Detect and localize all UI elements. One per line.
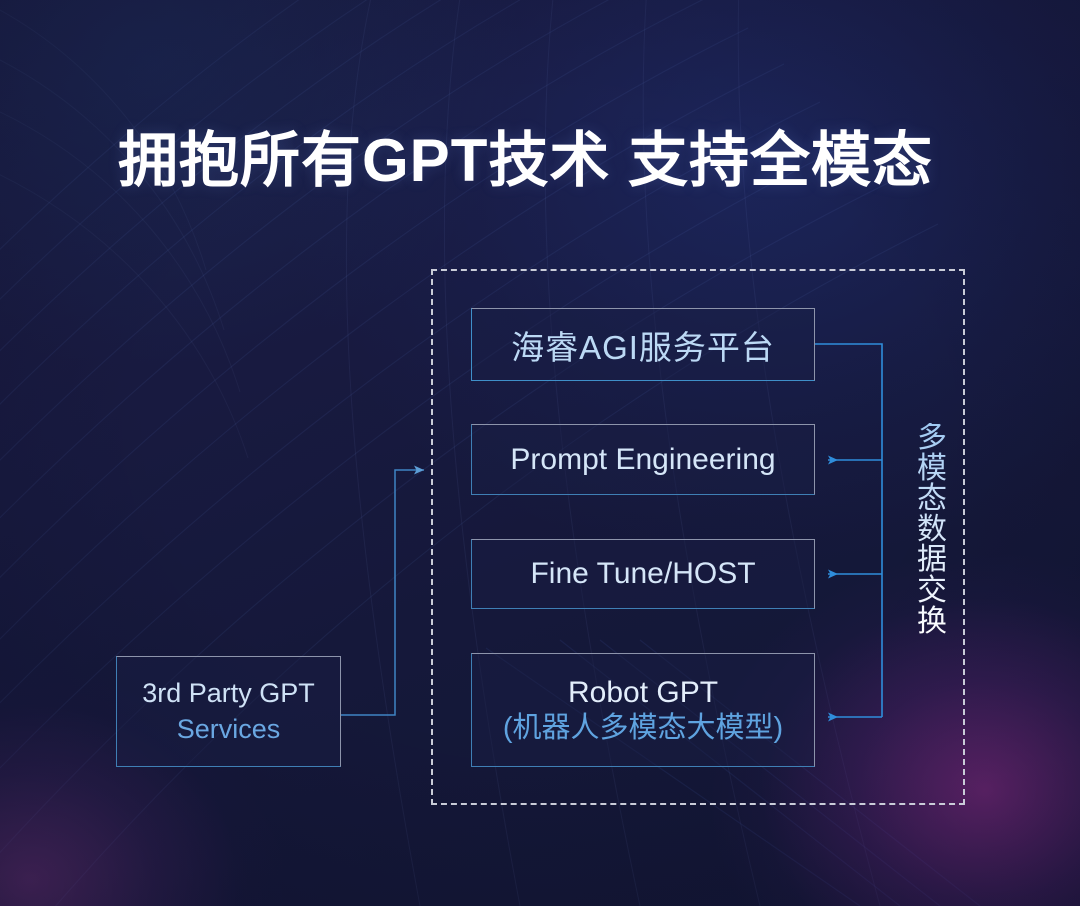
side-label-char: 据 xyxy=(914,545,950,576)
node-label-line2: Services xyxy=(177,712,281,747)
side-label-char: 换 xyxy=(914,607,950,638)
side-label-char: 数 xyxy=(914,515,950,546)
node-agi-platform[interactable]: 海睿AGI服务平台 xyxy=(471,308,815,381)
node-label-line1: 海睿AGI服务平台 xyxy=(511,321,775,369)
connector-thirdparty-to-boundary xyxy=(341,470,424,715)
page-title: 拥抱所有GPT技术 支持全模态 xyxy=(118,112,933,199)
node-label-line2: (机器人多模态大模型) xyxy=(503,711,783,745)
node-prompt-engineering[interactable]: Prompt Engineering xyxy=(471,424,815,495)
node-label-line1: Robot GPT xyxy=(568,675,718,710)
slide-canvas: 拥抱所有GPT技术 支持全模态 xyxy=(0,0,1080,906)
node-label-line1: Fine Tune/HOST xyxy=(530,557,755,591)
side-label-char: 态 xyxy=(914,484,950,515)
side-label-char: 模 xyxy=(914,454,950,485)
node-fine-tune-host[interactable]: Fine Tune/HOST xyxy=(471,539,815,609)
node-third-party-gpt-services[interactable]: 3rd Party GPT Services xyxy=(116,656,341,767)
side-label-char: 多 xyxy=(914,423,950,454)
node-label-line1: Prompt Engineering xyxy=(510,443,775,477)
node-label-line1: 3rd Party GPT xyxy=(142,676,315,711)
side-label-multimodal-data-exchange: 多 模 态 数 据 交 换 xyxy=(914,423,950,637)
node-robot-gpt[interactable]: Robot GPT (机器人多模态大模型) xyxy=(471,653,815,767)
side-label-char: 交 xyxy=(914,576,950,607)
